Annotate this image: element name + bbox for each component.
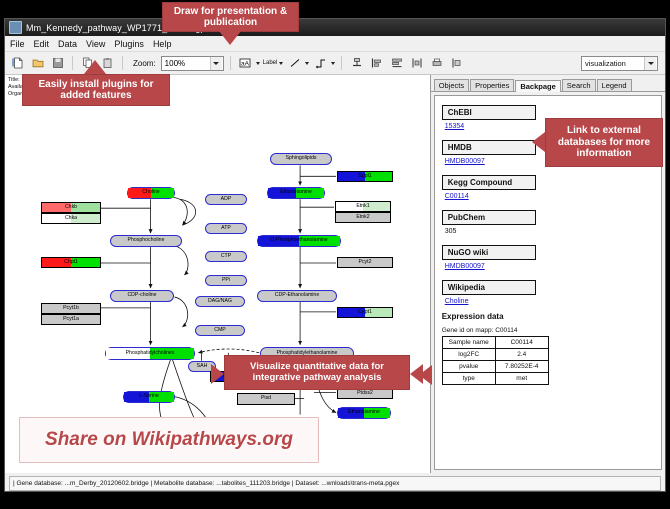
node-label: Phosphocholine: [128, 238, 165, 243]
node-label: Pcyt1a: [63, 317, 79, 322]
node-label: CMP: [214, 328, 226, 333]
pathway-canvas[interactable]: Title: Availa Organi: [5, 75, 431, 473]
save-icon[interactable]: [49, 55, 66, 72]
node-label: ATP: [221, 226, 231, 231]
chevron-down-icon[interactable]: [644, 57, 656, 70]
svg-text:aA: aA: [241, 61, 250, 68]
chebi-header: ChEBI: [442, 105, 536, 120]
table-row: pvalue 7.80252E-4: [442, 361, 548, 373]
node-label: Sphingolipids: [286, 156, 317, 161]
callout-visualize-arrow-left-icon: [211, 364, 224, 384]
title-bar: Mm_Kennedy_pathway_WP1771_45176.gpml: [5, 19, 665, 36]
gene-node-chkb[interactable]: Chkb: [41, 202, 101, 213]
label-tool-dropdown[interactable]: Label: [263, 60, 284, 66]
metabolite-node-ethanolamine-2[interactable]: Ethanolamine: [337, 407, 391, 419]
node-label: ADP: [221, 197, 232, 202]
gene-node-chka[interactable]: Chka: [41, 213, 101, 224]
gene-node-etnk2[interactable]: Etnk2: [335, 212, 391, 223]
table-row: Sample name C00114: [442, 337, 548, 349]
menu-bar: File Edit Data View Plugins Help: [5, 36, 665, 52]
metabolite-node-dag-nag[interactable]: DAG/NAG: [195, 296, 245, 307]
row-label: log2FC: [442, 349, 495, 361]
stack-tool-icon[interactable]: [388, 55, 405, 72]
tab-search[interactable]: Search: [562, 79, 596, 92]
group-tool-icon[interactable]: [408, 55, 425, 72]
node-label: CTP: [221, 254, 231, 259]
kegg-compound-link[interactable]: C00114: [445, 193, 654, 200]
callout-share: Share on Wikipathways.org: [19, 417, 319, 463]
anchor-tool-icon[interactable]: [348, 55, 365, 72]
metabolite-node-ethanolamine[interactable]: Ethanolamine: [267, 187, 325, 199]
hmdb-header: HMDB: [442, 140, 536, 155]
kegg-compound-header: Kegg Compound: [442, 175, 536, 190]
connector-tool-icon[interactable]: [312, 55, 329, 72]
row-label: Sample name: [442, 337, 495, 349]
node-label: Ptdss2: [357, 391, 373, 396]
visualization-value: visualization: [585, 59, 626, 68]
connector-tool-dropdown[interactable]: [312, 55, 335, 72]
node-label: Etnk2: [356, 215, 369, 220]
chevron-down-icon[interactable]: [210, 57, 222, 70]
toolbar-separator: [341, 56, 342, 70]
gene-node-sgpl1[interactable]: Sgpl1: [337, 171, 393, 182]
callout-draw: Draw for presentation & publication: [162, 2, 299, 32]
metabolite-node-l-serine-left[interactable]: L-Serine: [123, 391, 175, 403]
metabolite-node-sphingolipids[interactable]: Sphingolipids: [270, 153, 332, 165]
table-row: log2FC 2.4: [442, 349, 548, 361]
node-label: Pisd: [261, 396, 271, 401]
node-label: Chka: [65, 216, 77, 221]
node-label: PPi: [222, 278, 230, 283]
row-value: 2.4: [495, 349, 548, 361]
callout-links: Link to external databases for more info…: [545, 118, 663, 167]
node-label: Etnk1: [356, 204, 369, 209]
gene-node-pcyt1b[interactable]: Pcyt1b: [41, 303, 101, 314]
align-tool-icon[interactable]: [368, 55, 385, 72]
app-icon: [9, 21, 22, 34]
row-value: 7.80252E-4: [495, 361, 548, 373]
metabolite-node-cmp[interactable]: CMP: [195, 325, 245, 336]
print-icon[interactable]: [428, 55, 445, 72]
node-label: Chpt1: [64, 260, 78, 265]
zoom-value: 100%: [165, 59, 185, 68]
line-tool-dropdown[interactable]: [286, 55, 309, 72]
metabolite-node-phosphocholine[interactable]: Phosphocholine: [110, 235, 182, 247]
expression-table: Sample name C00114 log2FC 2.4 pvalue 7.8…: [442, 336, 549, 385]
side-panel-tabs: Objects Properties Backpage Search Legen…: [431, 75, 665, 92]
callout-visualize: Visualize quantitative data for integrat…: [224, 355, 410, 390]
tab-properties[interactable]: Properties: [470, 79, 514, 92]
toolbar-separator: [72, 56, 73, 70]
menu-item-help[interactable]: Help: [153, 39, 172, 49]
tab-objects[interactable]: Objects: [434, 79, 469, 92]
row-label: pvalue: [442, 361, 495, 373]
tab-backpage[interactable]: Backpage: [515, 80, 560, 93]
row-value: met: [495, 373, 548, 385]
status-bar: | Gene database: ...m_Derby_20120602.bri…: [9, 476, 661, 491]
node-label: CDP-Ethanolamine: [275, 293, 319, 298]
wikipedia-header: Wikipedia: [442, 280, 536, 295]
callout-links-arrow-icon: [532, 132, 545, 152]
order-icon[interactable]: [448, 55, 465, 72]
gene-node-etnk1[interactable]: Etnk1: [335, 201, 391, 212]
gene-node-pisd[interactable]: Pisd: [237, 393, 295, 405]
node-label: Ethanolamine: [348, 410, 380, 415]
node-label: Pcyt1b: [63, 306, 79, 311]
label-tool-label: Label: [263, 60, 278, 66]
toolbar-separator: [122, 56, 123, 70]
text-tool-icon[interactable]: aA: [237, 55, 254, 72]
wikipedia-link[interactable]: Choline: [445, 298, 654, 305]
node-label: L-Serine: [139, 394, 159, 399]
metabolite-node-cdp-choline[interactable]: CDP-choline: [110, 290, 174, 302]
menu-item-view[interactable]: View: [86, 39, 105, 49]
metabolite-node-choline-top[interactable]: Choline: [127, 187, 175, 199]
expression-data-title: Expression data: [442, 312, 654, 321]
menu-item-file[interactable]: File: [10, 39, 25, 49]
callout-visualize-arrow-right-icon: [410, 364, 423, 384]
tab-legend[interactable]: Legend: [597, 79, 632, 92]
node-label: Phosphatidylcholines: [126, 351, 175, 356]
metabolite-node-adp[interactable]: ADP: [205, 194, 247, 205]
node-label: DAG/NAG: [208, 299, 232, 304]
node-label: SAH: [197, 364, 208, 369]
node-label: Sgpl1: [358, 174, 371, 179]
metabolite-node-atp[interactable]: ATP: [205, 223, 247, 234]
node-label: Choline: [142, 190, 160, 195]
zoom-combobox[interactable]: 100%: [161, 56, 224, 71]
canvas-surface[interactable]: Title: Availa Organi: [5, 75, 430, 473]
gene-node-pcyt2[interactable]: Pcyt2: [337, 257, 393, 268]
table-row: type met: [442, 373, 548, 385]
node-label: Cept1: [358, 310, 372, 315]
pubchem-header: PubChem: [442, 210, 536, 225]
toolbar-separator: [230, 56, 231, 70]
gene-id-label: Gene id on mapp: C00114: [442, 327, 654, 334]
callout-plugins-arrow-icon: [84, 60, 106, 74]
node-label: Ethanolamine: [280, 190, 312, 195]
nugo-wiki-header: NuGO wiki: [442, 245, 536, 260]
node-label: Chkb: [65, 205, 77, 210]
zoom-label: Zoom:: [133, 59, 156, 68]
menu-item-edit[interactable]: Edit: [34, 39, 50, 49]
gene-node-cept1[interactable]: Cept1: [337, 307, 393, 318]
metabolite-node-ctp[interactable]: CTP: [205, 251, 247, 262]
metabolite-node-phosphatidylcholines[interactable]: Phosphatidylcholines: [105, 347, 195, 360]
callout-plugins: Easily install plugins for added feature…: [22, 74, 170, 106]
metabolite-node-o-phosphoethanolamine[interactable]: O-Phosphoethanolamine: [257, 235, 341, 247]
node-label: Pcyt2: [359, 260, 372, 265]
node-label: O-Phosphoethanolamine: [270, 238, 327, 243]
visualization-combobox[interactable]: visualization: [581, 56, 658, 71]
menu-item-data[interactable]: Data: [58, 39, 77, 49]
pubchem-value: 305: [445, 228, 654, 235]
row-label: type: [442, 373, 495, 385]
open-folder-icon[interactable]: [29, 55, 46, 72]
metabolite-node-cdp-ethanolamine[interactable]: CDP-Ethanolamine: [257, 290, 337, 302]
nugo-wiki-link[interactable]: HMDB00097: [445, 263, 654, 270]
node-label: CDP-choline: [127, 293, 156, 298]
gene-node-pcyt1a[interactable]: Pcyt1a: [41, 314, 101, 325]
gene-node-chpt1[interactable]: Chpt1: [41, 257, 101, 268]
share-text: Share on Wikipathways.org: [45, 429, 293, 451]
new-file-icon[interactable]: [9, 55, 26, 72]
callout-draw-arrow-icon: [219, 31, 241, 45]
text-tool-dropdown[interactable]: aA: [237, 55, 260, 72]
line-tool-icon[interactable]: [286, 55, 303, 72]
metabolite-node-ppi[interactable]: PPi: [205, 275, 247, 286]
menu-item-plugins[interactable]: Plugins: [114, 39, 144, 49]
status-bar-wrap: | Gene database: ...m_Derby_20120602.bri…: [5, 473, 665, 492]
row-value: C00114: [495, 337, 548, 349]
